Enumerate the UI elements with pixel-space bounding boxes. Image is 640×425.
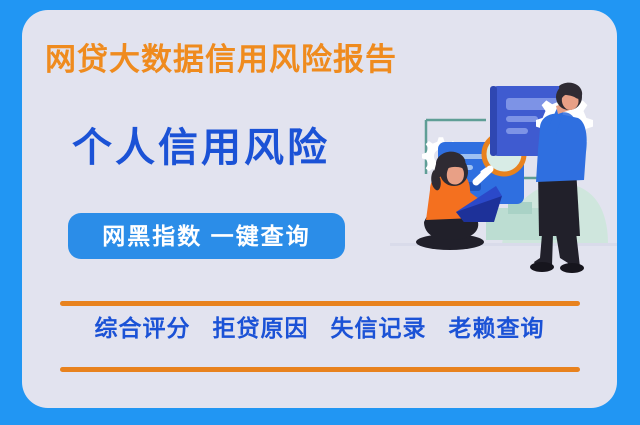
page-title-main: 个人信用风险 [72,128,330,168]
poster-root: 网贷大数据信用风险报告 个人信用风险 网黑指数 一键查询 综合评分 拒贷原因 失… [0,0,640,425]
footer-link-blacklist-query[interactable]: 老赖查询 [449,317,545,340]
footer-link-score[interactable]: 综合评分 [95,317,191,340]
query-button[interactable]: 网黑指数 一键查询 [68,213,345,259]
content-card: 网贷大数据信用风险报告 个人信用风险 网黑指数 一键查询 综合评分 拒贷原因 失… [22,10,617,408]
footer-link-list: 综合评分 拒贷原因 失信记录 老赖查询 [22,317,617,340]
divider-bottom [60,367,580,372]
footer-link-reject-reason[interactable]: 拒贷原因 [213,317,309,340]
divider-top [60,301,580,306]
query-button-label: 网黑指数 一键查询 [102,225,310,248]
page-title-top: 网贷大数据信用风险报告 [45,44,397,75]
hero-illustration [390,62,617,288]
footer-link-default-record[interactable]: 失信记录 [331,317,427,340]
